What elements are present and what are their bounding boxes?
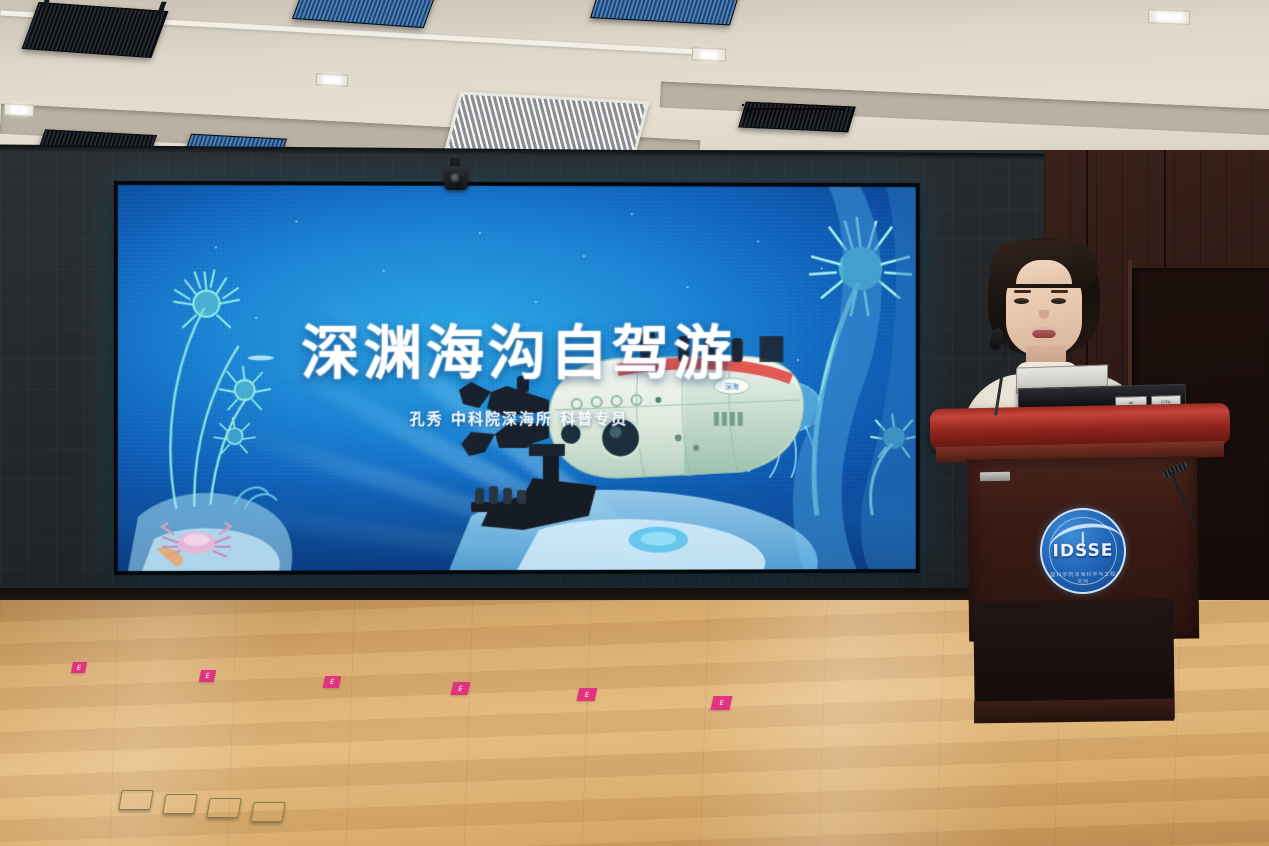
floor-marker: E: [199, 670, 217, 682]
eyebrow-left: [1014, 290, 1031, 293]
led-display-screen[interactable]: 深海: [114, 181, 920, 575]
logo-abbreviation: IDSSE: [1052, 541, 1113, 562]
floor-outlet-plate: [206, 798, 242, 818]
idsse-logo: IDSSE 中国科学院深海科学与工程研究所: [1039, 507, 1126, 594]
downlight-4: [1148, 9, 1191, 25]
ptz-camera-icon: [444, 166, 468, 190]
floor-marker: E: [577, 688, 598, 701]
floor-marker: E: [711, 696, 733, 710]
eye-left: [1014, 298, 1029, 304]
podium-nameplate: [980, 472, 1010, 481]
presentation-slide: 深海: [118, 185, 916, 571]
slide-subtitle: 孔秀 中科院深海所 科普专员: [118, 408, 916, 429]
floor-marker: E: [451, 682, 471, 695]
downlight-2: [316, 73, 349, 87]
mouth: [1032, 327, 1056, 338]
floor-outlet-plate: [250, 802, 286, 822]
eyebrow-right: [1051, 290, 1068, 293]
floor-outlet-plate: [162, 794, 198, 814]
downlight-1: [4, 103, 35, 117]
eye-right: [1051, 298, 1066, 304]
hair-front: [990, 240, 1098, 288]
podium-base: [974, 699, 1174, 724]
auditorium-scene: 深海: [0, 0, 1269, 846]
slide-title: 深渊海沟自驾游: [118, 306, 916, 390]
floor-marker: E: [323, 676, 342, 688]
stage-light-spare-6: [750, 112, 752, 114]
stage-light-3: [590, 0, 742, 25]
stage-light-spare-9: [748, 104, 750, 106]
stage-light-2: [292, 0, 440, 28]
stage-light-1: [22, 2, 169, 58]
logo-chinese-name: 中国科学院深海科学与工程研究所: [1042, 570, 1124, 585]
stage-light-spare-2: [742, 104, 744, 106]
stage-light-6: [738, 102, 856, 133]
floor-marker: E: [71, 662, 87, 673]
stage-light-spare-8: [745, 108, 845, 110]
downlight-3: [692, 47, 727, 62]
seafloor-crater-inner: [640, 532, 676, 546]
speaker-podium[interactable]: IDSSE 中国科学院深海科学与工程研究所: [930, 400, 1230, 740]
floor-outlet-plate: [118, 790, 154, 810]
